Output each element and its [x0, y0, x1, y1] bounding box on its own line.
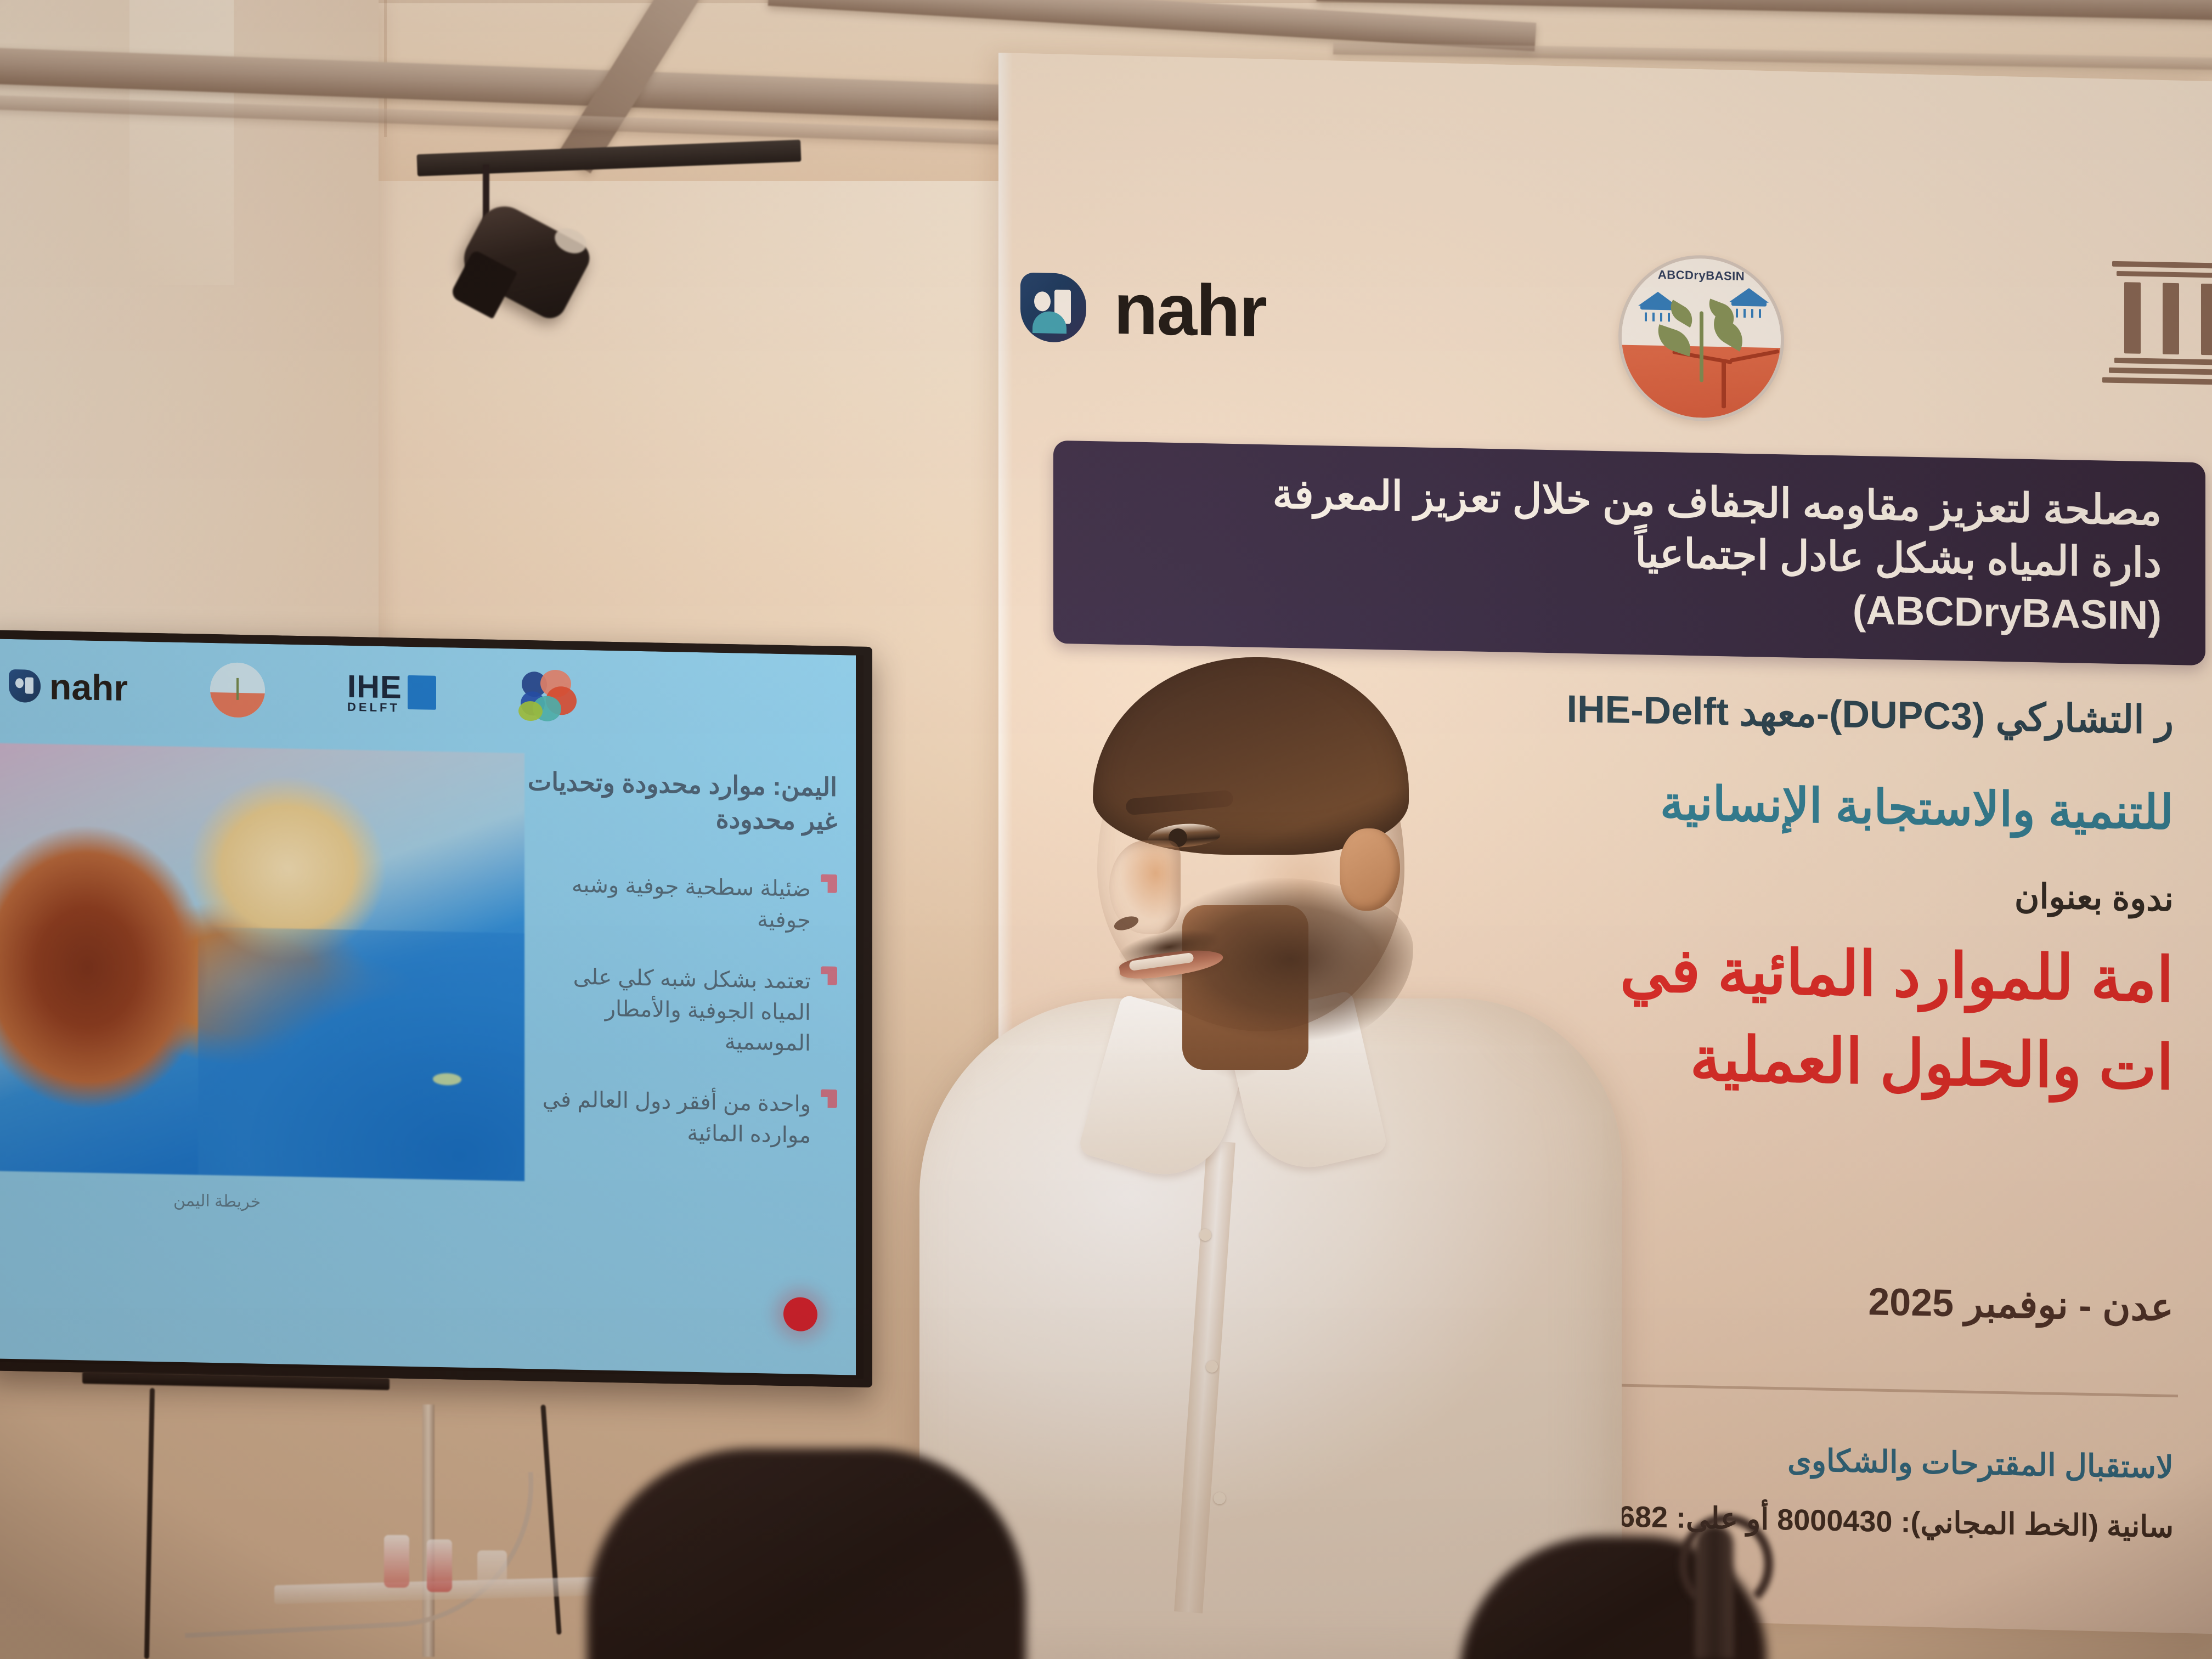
water-glass — [477, 1550, 507, 1589]
shirt-button — [1206, 1361, 1218, 1373]
photo-scene: nahr — [0, 0, 2212, 1659]
water-bottle — [384, 1535, 409, 1588]
person-in-droplet-icon — [1020, 273, 1086, 343]
banner-headline-line-1: امة للموارد المائية في — [1620, 934, 2174, 1016]
shirt-button — [1214, 1492, 1226, 1504]
speaker-person — [933, 647, 1662, 1659]
banner-title-box: مصلحة لتعزيز مقاومه الجفاف من خلال تعزيز… — [1053, 441, 2205, 665]
water-bottle — [427, 1539, 452, 1592]
unesco-temple-icon — [2112, 258, 2212, 398]
banner-organisation-line: للتنمية والاستجابة الإنسانية — [1660, 776, 2174, 840]
abcd-logo-caption: ABCDryBASIN — [1622, 267, 1781, 285]
banner-place-date: عدن - نوفمبر 2025 — [1868, 1279, 2174, 1330]
left-wall-panel — [129, 0, 234, 285]
banner-seminar-label: ندوة بعنوان — [2015, 876, 2174, 919]
banner-title-line-2: دارة المياه بشكل عادل اجتماعياً — [1635, 529, 2162, 587]
banner-contact-heading: لاستقبال المقترحات والشكاوى — [1787, 1442, 2174, 1486]
presentation-tv: nahr IHE DELFT — [0, 630, 872, 1387]
nahr-logo: nahr — [1020, 271, 1266, 348]
banner-title-line-3: (ABCDryBASIN) — [1853, 585, 2162, 639]
banner-headline-line-2: ات والحلول العملية — [1690, 1023, 2174, 1104]
banner-title-line-1: مصلحة لتعزيز مقاومه الجفاف من خلال تعزيز… — [1273, 470, 2162, 534]
hair — [1093, 657, 1409, 855]
sprout-in-cracked-soil-icon: ABCDryBASIN — [1618, 254, 1784, 423]
shirt-button — [1199, 1229, 1211, 1241]
tv-bezel — [0, 630, 872, 1387]
foreground-stand — [1695, 1525, 1734, 1659]
nahr-wordmark: nahr — [1114, 273, 1266, 348]
banner-logo-row: nahr — [998, 236, 2212, 413]
